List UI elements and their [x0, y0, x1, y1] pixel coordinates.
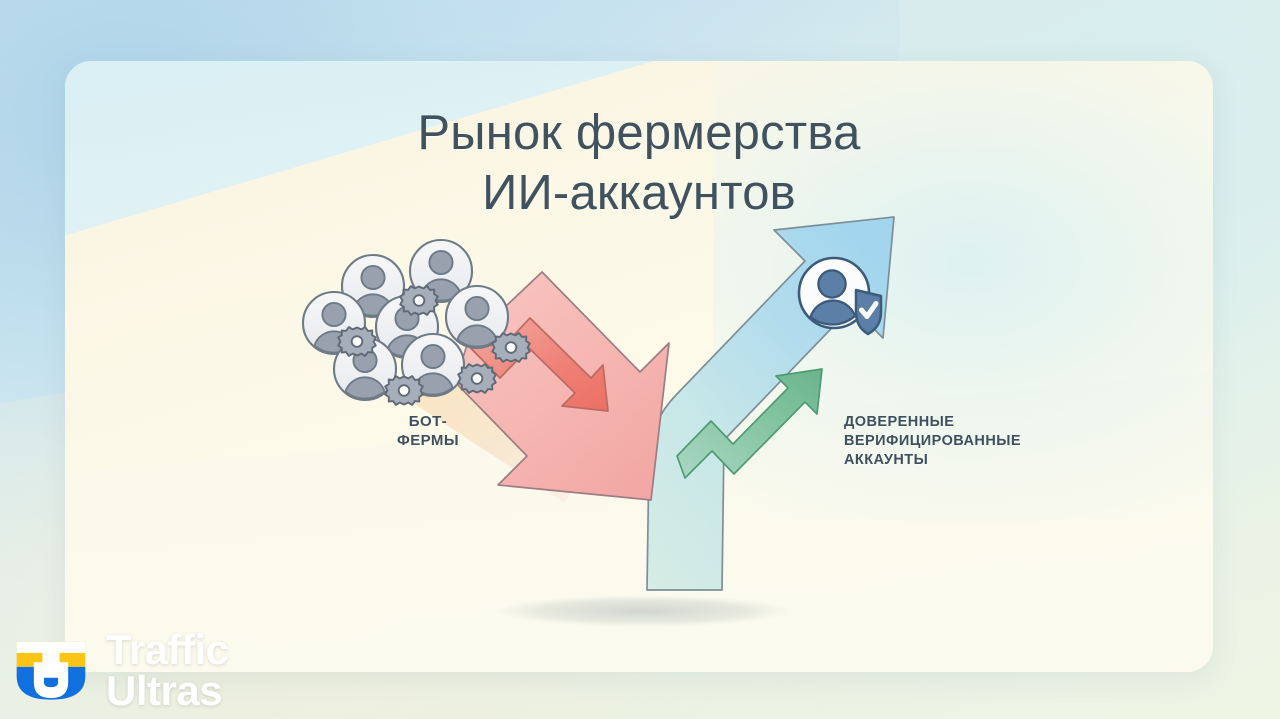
ground-shadow: [495, 595, 791, 627]
shield-check-icon: [856, 290, 881, 334]
label-bot-farms: БОТ- ФЕРМЫ: [358, 412, 498, 450]
gear-icon: [385, 376, 423, 405]
gear-icon: [338, 327, 376, 356]
gear-icon: [458, 364, 496, 393]
content-card: Рынок фермерства ИИ-аккаунтов: [65, 61, 1213, 672]
tu-monogram-icon: [12, 631, 90, 709]
gear-icon: [492, 333, 530, 362]
market-illustration: [65, 61, 1213, 672]
label-trusted-accounts: ДОВЕРЕННЫЕ ВЕРИФИЦИРОВАННЫЕ АККАУНТЫ: [844, 413, 1094, 470]
gear-icon: [400, 286, 438, 315]
brand-name: Traffic Ultras: [106, 629, 229, 711]
brand-logo: Traffic Ultras: [12, 629, 229, 711]
slide-canvas: Рынок фермерства ИИ-аккаунтов: [0, 0, 1280, 719]
